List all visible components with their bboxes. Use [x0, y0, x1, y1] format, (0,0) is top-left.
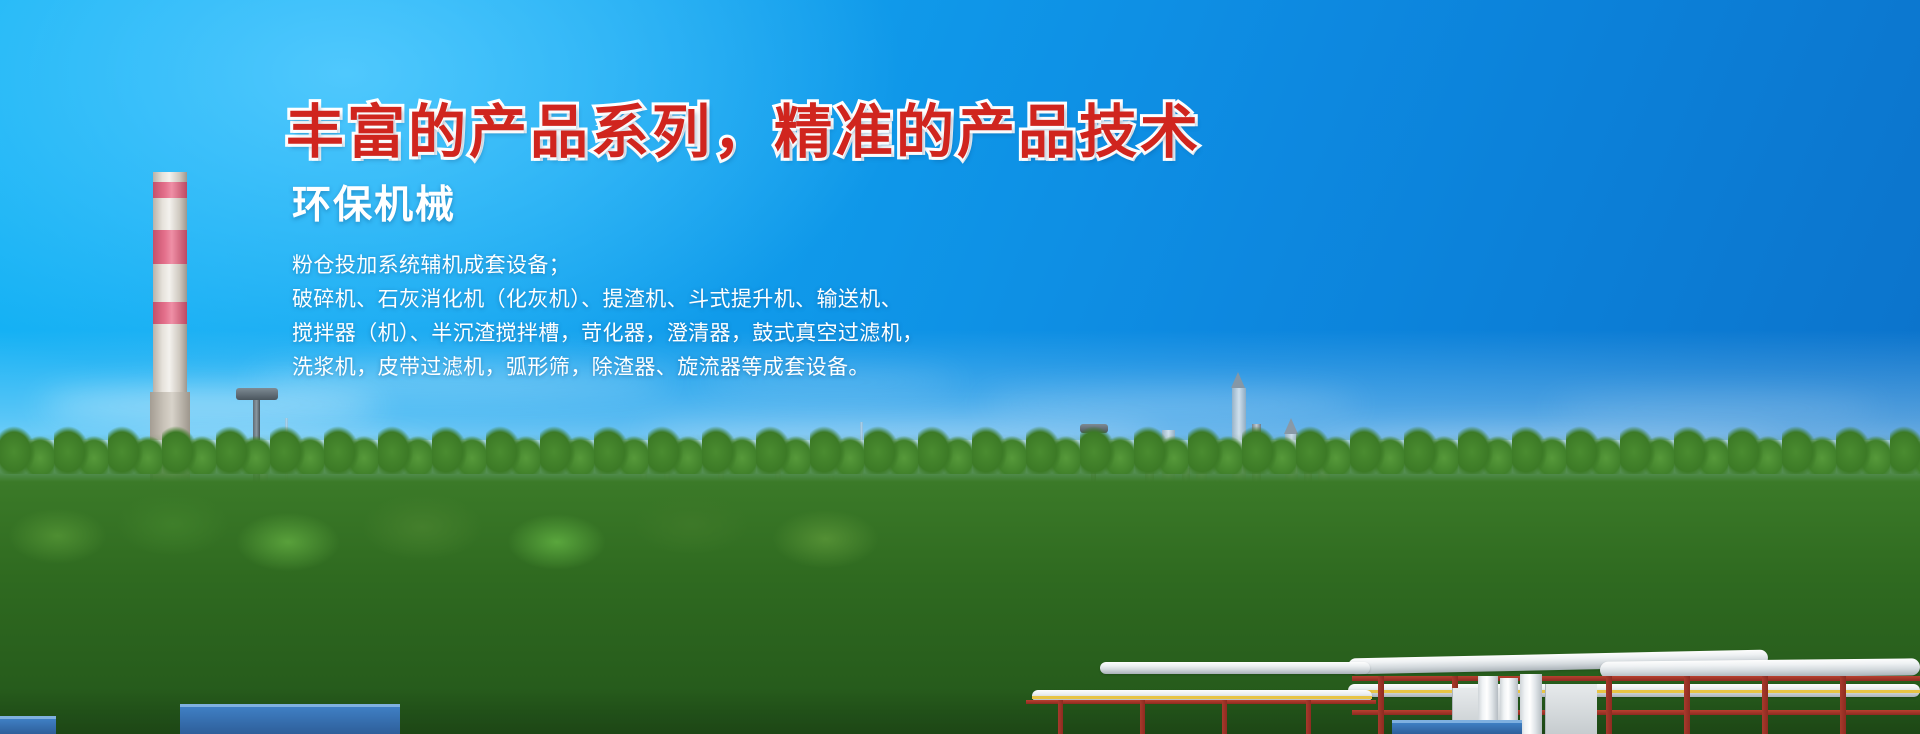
- banner-subheading: 环保机械: [292, 186, 1386, 227]
- description-line: 洗浆机，皮带过滤机，弧形筛，除渣器、旋流器等成套设备。: [292, 351, 1386, 385]
- overhead-pipe: [1100, 662, 1370, 674]
- description-line: 粉仓投加系统辅机成套设备；: [292, 249, 1386, 283]
- overhead-pipe: [1348, 684, 1920, 697]
- banner-copy: 丰富的产品系列，精准的产品技术 环保机械 粉仓投加系统辅机成套设备； 破碎机、石…: [286, 104, 1386, 385]
- banner-description: 粉仓投加系统辅机成套设备； 破碎机、石灰消化机（化灰机）、提渣机、斗式提升机、输…: [292, 249, 1386, 385]
- hero-banner: H 中国石油化工集团 爱护职工视觉 争创职工收入最大化 心源海安轧钢 一路平安: [0, 0, 1920, 734]
- equipment-housing: [1545, 684, 1597, 734]
- description-line: 搅拌器（机）、半沉渣搅拌槽，苛化器，澄清器，鼓式真空过滤机，: [292, 317, 1386, 351]
- blue-roof-building: [0, 716, 56, 734]
- description-line: 破碎机、石灰消化机（化灰机）、提渣机、斗式提升机、输送机、: [292, 283, 1386, 317]
- blue-roof-building: [180, 704, 400, 734]
- blue-roof-building: [1392, 720, 1522, 734]
- silo: [1520, 674, 1542, 734]
- banner-headline: 丰富的产品系列，精准的产品技术: [286, 104, 1386, 162]
- light-pole-head: [236, 388, 278, 400]
- treetops: [0, 404, 1920, 474]
